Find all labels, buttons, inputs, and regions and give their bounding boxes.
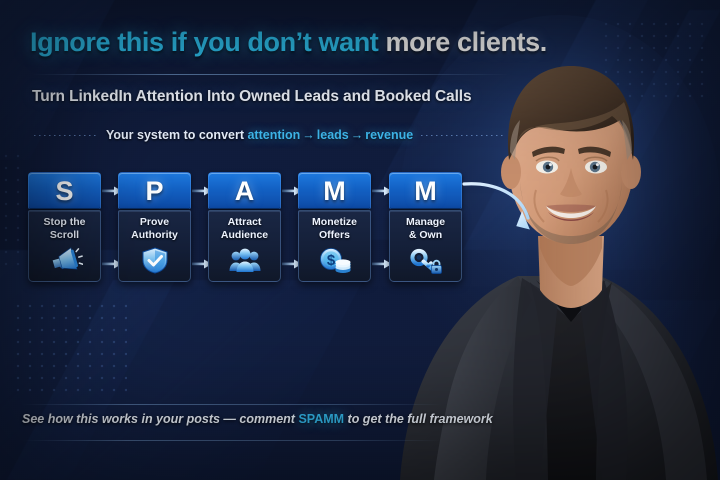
vignette-overlay: [0, 0, 720, 480]
promo-banner: Ignore this if you don’t want more clien…: [0, 0, 720, 480]
